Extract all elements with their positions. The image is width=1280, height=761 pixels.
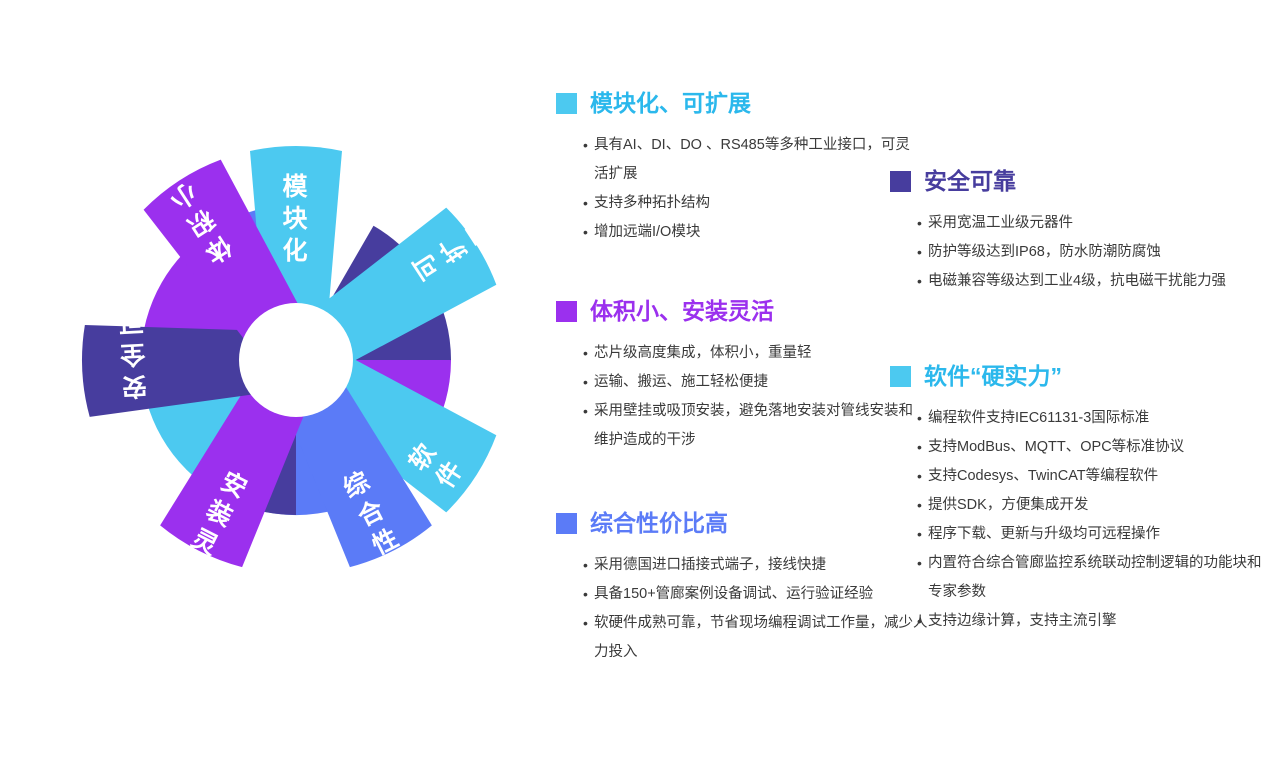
section-header: 体积小、安装灵活 <box>556 300 924 323</box>
bullet-item: 支持Codesys、TwinCAT等编程软件 <box>928 462 1268 491</box>
radial-pinwheel-diagram: 模块化 可扩展 软件“硬实力” 综合性价比高 安装灵活 安全可靠 体积小 <box>0 120 580 650</box>
bullet-item: 采用壁挂或吸顶安装，避免落地安装对管线安装和维护造成的干涉 <box>594 397 924 455</box>
section-header: 综合性价比高 <box>556 512 934 535</box>
section-marker-square <box>890 171 911 192</box>
bullet-item: 具备150+管廊案例设备调试、运行验证经验 <box>594 580 934 609</box>
bullet-list: 芯片级高度集成，体积小，重量轻 运输、搬运、施工轻松便捷 采用壁挂或吸顶安装，避… <box>556 339 924 455</box>
section-marker-square <box>556 513 577 534</box>
bullet-item: 内置符合综合管廊监控系统联动控制逻辑的功能块和专家参数 <box>928 549 1268 607</box>
bullet-item: 程序下载、更新与升级均可远程操作 <box>928 520 1268 549</box>
bullet-item: 编程软件支持IEC61131-3国际标准 <box>928 404 1268 433</box>
section-header: 模块化、可扩展 <box>556 92 924 115</box>
section-modular: 模块化、可扩展 具有AI、DI、DO 、RS485等多种工业接口，可灵活扩展 支… <box>556 92 924 247</box>
bullet-item: 运输、搬运、施工轻松便捷 <box>594 368 924 397</box>
section-title: 安全可靠 <box>924 170 1016 193</box>
petal-label-software: 软件“硬实力” <box>404 438 580 580</box>
section-header: 安全可靠 <box>890 170 1226 193</box>
bullet-item: 采用德国进口插接式端子，接线快捷 <box>594 551 934 580</box>
bullet-list: 编程软件支持IEC61131-3国际标准 支持ModBus、MQTT、OPC等标… <box>890 404 1268 636</box>
section-title: 综合性价比高 <box>590 512 728 535</box>
bullet-item: 采用宽温工业级元器件 <box>928 209 1226 238</box>
bullet-item: 提供SDK，方便集成开发 <box>928 491 1268 520</box>
bullet-item: 电磁兼容等级达到工业4级，抗电磁干扰能力强 <box>928 267 1226 296</box>
bullet-item: 芯片级高度集成，体积小，重量轻 <box>594 339 924 368</box>
section-software: 软件“硬实力” 编程软件支持IEC61131-3国际标准 支持ModBus、MQ… <box>890 365 1268 636</box>
section-costperf: 综合性价比高 采用德国进口插接式端子，接线快捷 具备150+管廊案例设备调试、运… <box>556 512 934 667</box>
bullet-list: 采用德国进口插接式端子，接线快捷 具备150+管廊案例设备调试、运行验证经验 软… <box>556 551 934 667</box>
petal-label-modular: 模块化 <box>282 172 309 265</box>
section-compact: 体积小、安装灵活 芯片级高度集成，体积小，重量轻 运输、搬运、施工轻松便捷 采用… <box>556 300 924 455</box>
section-marker-square <box>556 301 577 322</box>
bullet-item: 支持ModBus、MQTT、OPC等标准协议 <box>928 433 1268 462</box>
section-title: 软件“硬实力” <box>924 365 1062 388</box>
bullet-list: 采用宽温工业级元器件 防护等级达到IP68，防水防潮防腐蚀 电磁兼容等级达到工业… <box>890 209 1226 296</box>
bullet-item: 支持边缘计算，支持主流引擎 <box>928 607 1268 636</box>
section-header: 软件“硬实力” <box>890 365 1268 388</box>
bullet-item: 支持多种拓扑结构 <box>594 189 924 218</box>
bullet-item: 具有AI、DI、DO 、RS485等多种工业接口，可灵活扩展 <box>594 131 924 189</box>
center-hub <box>239 303 353 417</box>
section-marker-square <box>556 93 577 114</box>
section-title: 模块化、可扩展 <box>590 92 751 115</box>
section-safe: 安全可靠 采用宽温工业级元器件 防护等级达到IP68，防水防潮防腐蚀 电磁兼容等… <box>890 170 1226 296</box>
section-title: 体积小、安装灵活 <box>590 300 774 323</box>
bullet-list: 具有AI、DI、DO 、RS485等多种工业接口，可灵活扩展 支持多种拓扑结构 … <box>556 131 924 247</box>
bullet-item: 增加远端I/O模块 <box>594 218 924 247</box>
bullet-item: 软硬件成熟可靠，节省现场编程调试工作量，减少人力投入 <box>594 609 934 667</box>
bullet-item: 防护等级达到IP68，防水防潮防腐蚀 <box>928 238 1226 267</box>
section-marker-square <box>890 366 911 387</box>
